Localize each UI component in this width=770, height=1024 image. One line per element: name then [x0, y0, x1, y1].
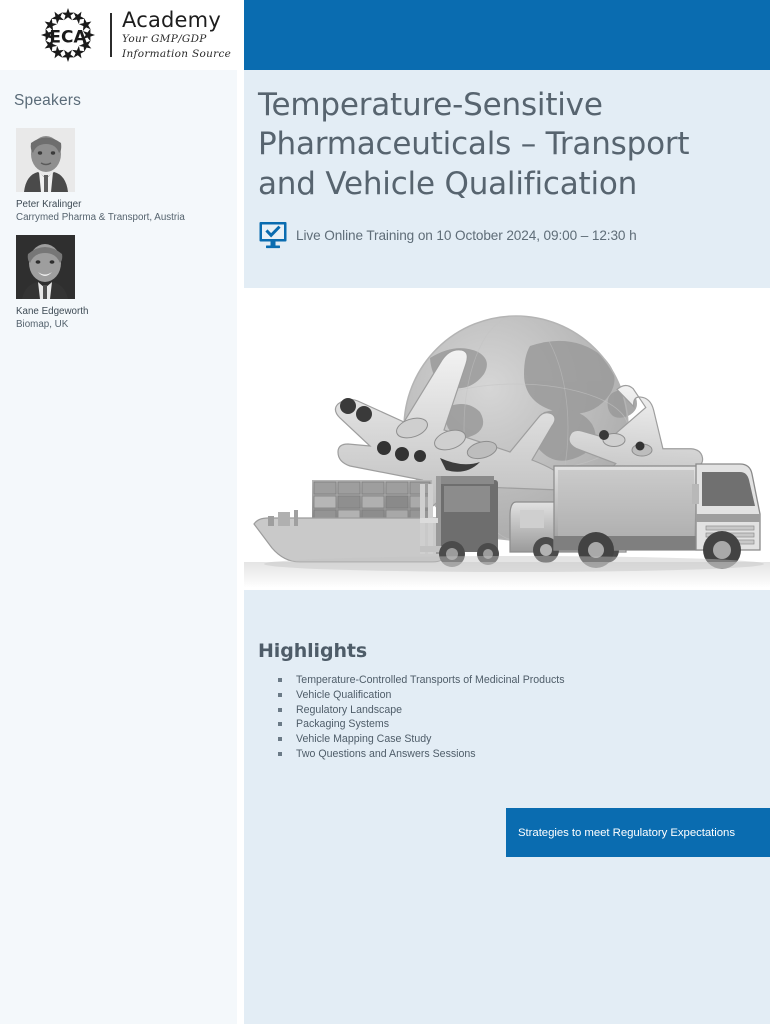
- column-gap: [237, 0, 244, 1024]
- highlights-heading: Highlights: [258, 640, 770, 662]
- logo-tagline-line2: Information Source: [122, 48, 231, 61]
- logo-area: ECA Academy Your GMP/GDP Information Sou…: [0, 0, 237, 70]
- list-item: Vehicle Qualification: [278, 688, 770, 703]
- eca-acronym-text: ECA: [49, 28, 87, 48]
- strategies-banner: Strategies to meet Regulatory Expectatio…: [506, 808, 770, 857]
- logo-wordmark: Academy Your GMP/GDP Information Source: [122, 9, 231, 61]
- flyer-page: ECA Academy Your GMP/GDP Information Sou…: [0, 0, 770, 1024]
- highlights-section: Highlights Temperature-Controlled Transp…: [244, 590, 770, 762]
- top-accent-bar: [244, 0, 770, 70]
- highlights-list: Temperature-Controlled Transports of Med…: [278, 673, 770, 762]
- speaker-name: Kane Edgeworth: [16, 305, 88, 318]
- list-item: Two Questions and Answers Sessions: [278, 747, 770, 762]
- list-item: Regulatory Landscape: [278, 703, 770, 718]
- speaker-portrait-photo: [16, 128, 75, 192]
- forklift: [420, 476, 499, 567]
- page-title: Temperature-Sensitive Pharmaceuticals – …: [258, 86, 754, 204]
- list-item: Vehicle Mapping Case Study: [278, 732, 770, 747]
- list-item: Temperature-Controlled Transports of Med…: [278, 673, 770, 688]
- event-info-row: Live Online Training on 10 October 2024,…: [258, 220, 754, 250]
- speaker-card: Kane Edgeworth Biomap, UK: [16, 235, 88, 331]
- speaker-card: Peter Kralinger Carrymed Pharma & Transp…: [16, 128, 185, 224]
- monitor-checkmark-icon: [258, 220, 288, 250]
- speakers-heading: Speakers: [14, 92, 81, 110]
- eca-stars-circle-icon: ECA: [32, 7, 104, 63]
- event-date-text: Live Online Training on 10 October 2024,…: [296, 228, 637, 243]
- banner-text: Strategies to meet Regulatory Expectatio…: [506, 827, 735, 839]
- speaker-organisation: Biomap, UK: [16, 318, 88, 331]
- speaker-name: Peter Kralinger: [16, 198, 185, 211]
- title-line-2: Pharmaceuticals – Transport: [258, 126, 689, 162]
- title-block: Temperature-Sensitive Pharmaceuticals – …: [244, 70, 770, 261]
- eca-academy-logo[interactable]: ECA Academy Your GMP/GDP Information Sou…: [32, 6, 231, 64]
- logo-academy-text: Academy: [122, 9, 231, 31]
- main-content: Temperature-Sensitive Pharmaceuticals – …: [244, 0, 770, 1024]
- speaker-portrait-photo: [16, 235, 75, 299]
- title-line-3: and Vehicle Qualification: [258, 166, 637, 202]
- logo-tagline-line1: Your GMP/GDP: [122, 33, 231, 46]
- list-item: Packaging Systems: [278, 717, 770, 732]
- title-line-1: Temperature-Sensitive: [258, 87, 603, 123]
- speaker-organisation: Carrymed Pharma & Transport, Austria: [16, 211, 185, 224]
- sidebar: ECA Academy Your GMP/GDP Information Sou…: [0, 0, 237, 1024]
- logo-divider: [110, 13, 112, 57]
- hero-logistics-image: [244, 288, 770, 590]
